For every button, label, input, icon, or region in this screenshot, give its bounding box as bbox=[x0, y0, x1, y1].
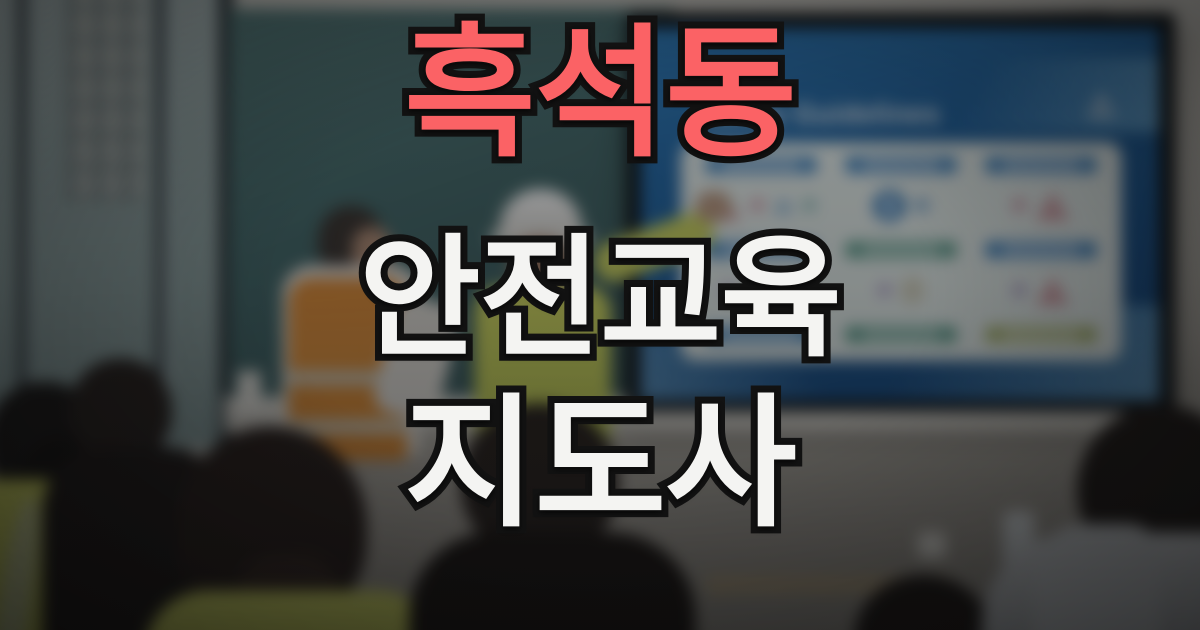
caption-line-topic: 안전교육 bbox=[359, 232, 841, 367]
caption-line-location: 흑석동 bbox=[404, 22, 796, 168]
caption-line-qualification: 지도사 bbox=[404, 392, 796, 538]
thumbnail-canvas: Safety Guidelines bbox=[0, 0, 1200, 630]
caption-overlay: 흑석동 안전교육 지도사 bbox=[0, 0, 1200, 630]
